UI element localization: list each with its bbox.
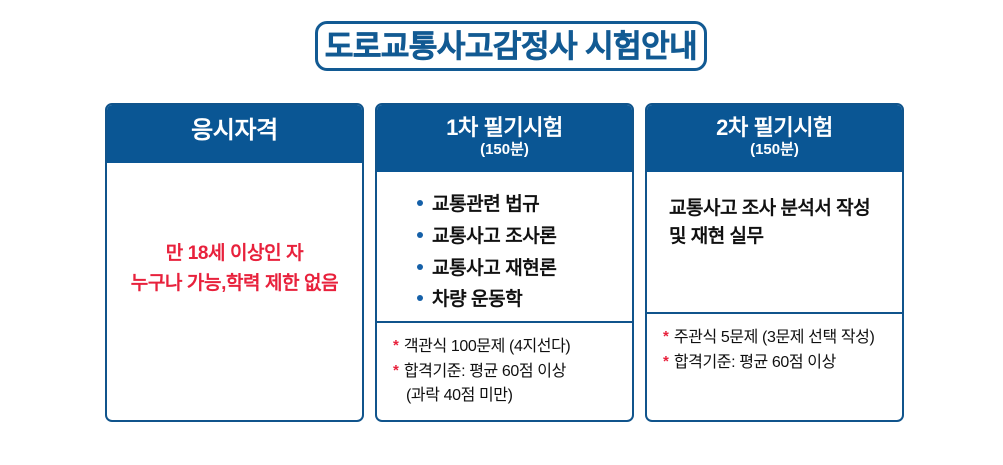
eligibility-line: 만 18세 이상인 자 xyxy=(166,239,303,268)
practice-line: 및 재현 실무 xyxy=(669,223,882,251)
first-exam-notes: * 객관식 100문제 (4지선다) * 합격기준: 평균 60점 이상 (과락… xyxy=(377,321,632,422)
subject-label: 교통관련 법규 xyxy=(432,194,539,217)
card-eligibility: 응시자격 만 18세 이상인 자 누구나 가능,학력 제한 없음 xyxy=(105,103,364,422)
card-second-written-exam-title: 2차 필기시험 xyxy=(647,116,902,140)
note-text: 주관식 5문제 (3문제 선택 작성) xyxy=(674,327,875,349)
subject-label: 차량 운동학 xyxy=(432,289,522,312)
note-continuation: (과락 40점 미만) xyxy=(406,385,624,407)
page-title: 도로교통사고감정사 시험안내 xyxy=(325,31,697,62)
card-first-written-exam: 1차 필기시험 (150분) 교통관련 법규 교통사고 조사론 교통사고 재현론… xyxy=(375,103,634,422)
list-item: 차량 운동학 xyxy=(417,289,632,312)
subject-list: 교통관련 법규 교통사고 조사론 교통사고 재현론 차량 운동학 xyxy=(377,172,632,321)
card-second-written-exam-body: 교통사고 조사 분석서 작성 및 재현 실무 * 주관식 5문제 (3문제 선택… xyxy=(647,172,902,420)
card-second-written-exam-header: 2차 필기시험 (150분) xyxy=(647,105,902,172)
card-first-written-exam-body: 교통관련 법규 교통사고 조사론 교통사고 재현론 차량 운동학 * 객관식 1… xyxy=(377,172,632,422)
note-text: 합격기준: 평균 60점 이상 xyxy=(674,352,836,374)
card-first-written-exam-title: 1차 필기시험 xyxy=(377,116,632,140)
asterisk-icon: * xyxy=(663,352,669,372)
practice-line: 교통사고 조사 분석서 작성 xyxy=(669,195,882,223)
card-second-written-exam-duration: (150분) xyxy=(647,141,902,160)
eligibility-line: 누구나 가능,학력 제한 없음 xyxy=(131,269,338,298)
subject-label: 교통사고 조사론 xyxy=(432,226,556,249)
list-item: 교통관련 법규 xyxy=(417,194,632,217)
list-item: 교통사고 재현론 xyxy=(417,258,632,281)
asterisk-icon: * xyxy=(663,327,669,347)
card-eligibility-body: 만 18세 이상인 자 누구나 가능,학력 제한 없음 xyxy=(107,163,362,420)
bullet-dot-icon xyxy=(417,200,423,206)
note-text: 합격기준: 평균 60점 이상 xyxy=(404,361,566,383)
note-item: * 객관식 100문제 (4지선다) xyxy=(393,336,624,358)
list-item: 교통사고 조사론 xyxy=(417,226,632,249)
note-item: * 합격기준: 평균 60점 이상 xyxy=(663,352,894,374)
practice-description: 교통사고 조사 분석서 작성 및 재현 실무 xyxy=(647,172,902,312)
bullet-dot-icon xyxy=(417,232,423,238)
note-item: * 합격기준: 평균 60점 이상 xyxy=(393,361,624,383)
note-text: 객관식 100문제 (4지선다) xyxy=(404,336,571,358)
card-first-written-exam-duration: (150분) xyxy=(377,141,632,160)
page-title-box: 도로교통사고감정사 시험안내 xyxy=(315,21,707,71)
subject-label: 교통사고 재현론 xyxy=(432,258,556,281)
note-item: * 주관식 5문제 (3문제 선택 작성) xyxy=(663,327,894,349)
card-first-written-exam-header: 1차 필기시험 (150분) xyxy=(377,105,632,172)
card-eligibility-title: 응시자격 xyxy=(107,118,362,144)
eligibility-text-block: 만 18세 이상인 자 누구나 가능,학력 제한 없음 xyxy=(107,163,362,420)
bullet-dot-icon xyxy=(417,264,423,270)
card-eligibility-header: 응시자격 xyxy=(107,105,362,163)
asterisk-icon: * xyxy=(393,361,399,381)
asterisk-icon: * xyxy=(393,336,399,356)
second-exam-notes: * 주관식 5문제 (3문제 선택 작성) * 합격기준: 평균 60점 이상 xyxy=(647,312,902,420)
bullet-dot-icon xyxy=(417,295,423,301)
card-second-written-exam: 2차 필기시험 (150분) 교통사고 조사 분석서 작성 및 재현 실무 * … xyxy=(645,103,904,422)
